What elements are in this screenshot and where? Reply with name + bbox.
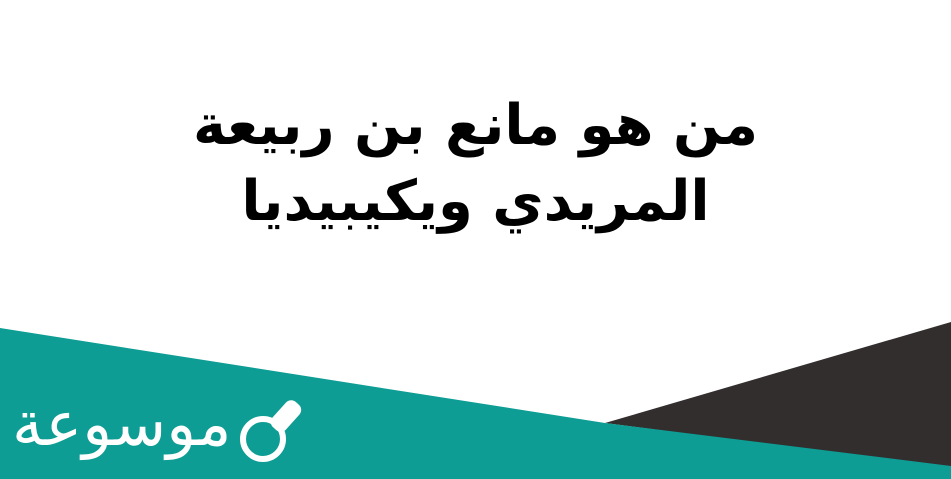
- brand-logo-text: موسوعة: [12, 393, 231, 455]
- magnifying-glass-icon: [233, 393, 307, 467]
- headline-line-2: المريدي ويكيبيديا: [0, 164, 951, 240]
- headline-line-1: من هو مانع بن ربيعة: [0, 88, 951, 164]
- brand-logo[interactable]: موسوعة: [12, 385, 301, 471]
- dark-diagonal-wedge: [605, 322, 951, 468]
- page-title: من هو مانع بن ربيعة المريدي ويكيبيديا: [0, 88, 951, 239]
- article-banner: من هو مانع بن ربيعة المريدي ويكيبيديا مو…: [0, 0, 951, 479]
